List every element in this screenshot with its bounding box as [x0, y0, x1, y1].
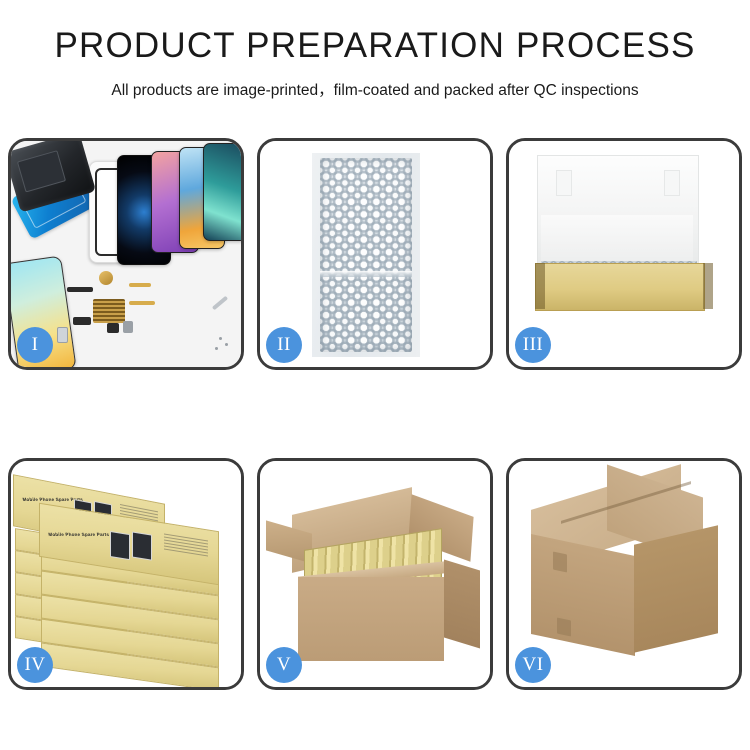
tray-side-right — [703, 263, 713, 309]
speaker-part — [99, 271, 113, 285]
carton-right-face — [444, 559, 480, 648]
process-step-card-4: Mobile Phone Spare Parts Mobile Phone Sp… — [8, 458, 244, 690]
lid-tab-right — [664, 170, 680, 196]
step-badge-3: III — [515, 327, 551, 363]
step-badge-1: I — [17, 327, 53, 363]
page-title: PRODUCT PREPARATION PROCESS — [0, 28, 750, 65]
sim-tray-part — [57, 327, 68, 343]
step-badge-5: V — [266, 647, 302, 683]
process-step-card-6: VI — [506, 458, 742, 690]
step-badge-4: IV — [17, 647, 53, 683]
carton-left-face — [531, 534, 635, 656]
process-step-card-5: V — [257, 458, 493, 690]
header: PRODUCT PREPARATION PROCESS All products… — [0, 0, 750, 100]
teal-phone — [203, 143, 241, 241]
box-screen-graphic — [110, 531, 130, 560]
lid-tab-left — [556, 170, 572, 196]
process-step-card-1: I — [8, 138, 244, 370]
tweezers-part — [212, 296, 228, 311]
carton-front-face — [298, 577, 444, 661]
step-badge-6: VI — [515, 647, 551, 683]
process-step-grid: I II — [8, 138, 742, 690]
pouch-seam — [320, 271, 412, 277]
battery-connector-part — [123, 321, 133, 333]
process-step-card-3: III — [506, 138, 742, 370]
ribbon-cable-part — [129, 301, 155, 305]
step-badge-2: II — [266, 327, 302, 363]
process-step-card-2: II — [257, 138, 493, 370]
screw-part — [215, 347, 218, 350]
connector-grid-part — [93, 299, 125, 323]
screw-part — [219, 337, 222, 340]
small-chip-part — [107, 323, 119, 333]
screw-part — [225, 343, 228, 346]
carton-tape-upper — [553, 552, 567, 573]
camera-module-part — [73, 317, 91, 325]
bubble-pouch — [312, 153, 420, 357]
box-spec-lines — [164, 534, 208, 559]
carton-tape-lower — [557, 618, 571, 637]
bubble-wrap-texture — [320, 158, 412, 352]
page-subtitle: All products are image-printed，film-coat… — [0, 78, 750, 100]
foam-insert — [541, 215, 693, 267]
box-label-text: Mobile Phone Spare Parts — [48, 532, 110, 537]
tray-side-left — [535, 263, 545, 309]
yellow-box-tray — [535, 263, 705, 311]
flex-cable-part — [67, 287, 93, 292]
box-screen-graphic — [132, 531, 152, 560]
ribbon-cable-part — [129, 283, 151, 287]
product-preparation-infographic: PRODUCT PREPARATION PROCESS All products… — [0, 0, 750, 750]
carton-right-face — [634, 525, 718, 652]
